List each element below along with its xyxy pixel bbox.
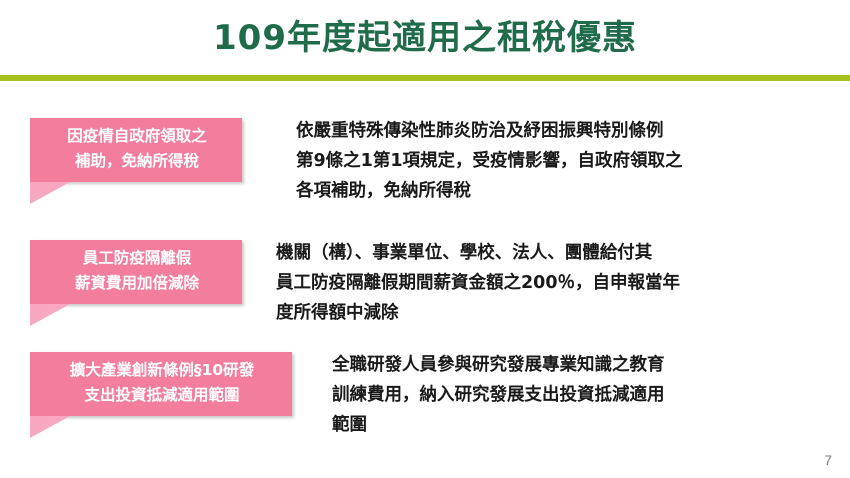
topic-body-2: 機關（構）、事業單位、學校、法人、團體給付其 員工防疫隔離假期間薪資金額之200… bbox=[276, 238, 836, 328]
title-area: 109年度起適用之租稅優惠 bbox=[0, 16, 850, 60]
topic-body-3: 全職研發人員參與研究發展專業知識之教育 訓練費用，納入研究發展支出投資抵減適用 … bbox=[332, 350, 832, 440]
topic-body-1: 依嚴重特殊傳染性肺炎防治及紓困振興特別條例 第9條之1第1項規定，受疫情影響，自… bbox=[296, 116, 836, 206]
label-tail-3 bbox=[30, 416, 70, 438]
label-tail-2 bbox=[30, 304, 70, 326]
topic-label-3: 擴大產業創新條例§10研發 支出投資抵減適用範圍 bbox=[30, 352, 292, 416]
label-wrap-2: 員工防疫隔離假 薪資費用加倍減除 bbox=[30, 240, 242, 304]
label-tail-1 bbox=[30, 182, 70, 204]
label-wrap-1: 因疫情自政府領取之 補助，免納所得稅 bbox=[30, 118, 242, 182]
topic-label-1: 因疫情自政府領取之 補助，免納所得稅 bbox=[30, 118, 242, 182]
topic-label-2: 員工防疫隔離假 薪資費用加倍減除 bbox=[30, 240, 242, 304]
label-wrap-3: 擴大產業創新條例§10研發 支出投資抵減適用範圍 bbox=[30, 352, 292, 416]
page-number: 7 bbox=[824, 452, 832, 468]
slide: 109年度起適用之租稅優惠 因疫情自政府領取之 補助，免納所得稅 依嚴重特殊傳染… bbox=[0, 0, 850, 478]
title-divider bbox=[0, 75, 850, 81]
page-title: 109年度起適用之租稅優惠 bbox=[0, 16, 850, 60]
